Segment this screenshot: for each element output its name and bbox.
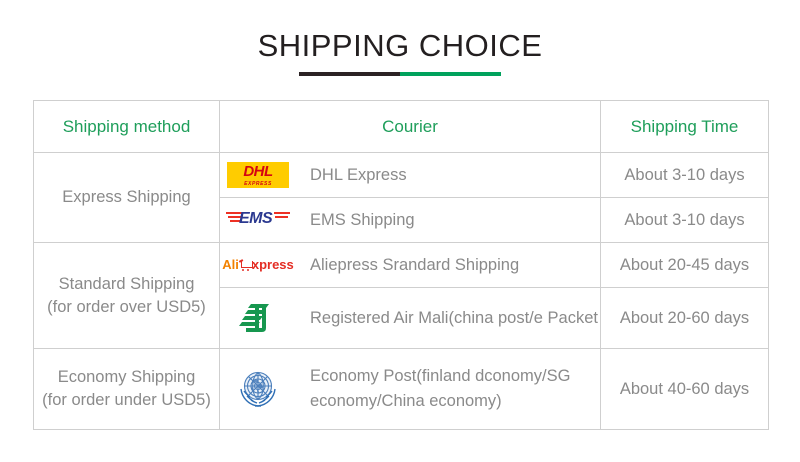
- courier-label: Aliepress Srandard Shipping: [310, 253, 519, 278]
- method-cell-express: Express Shipping: [34, 153, 220, 243]
- title-underline-left: [299, 72, 400, 76]
- dhl-logo-subword: EXPRESS: [227, 181, 289, 187]
- ems-logo-word: EMS: [239, 210, 272, 228]
- title-underline-right: [400, 72, 501, 76]
- time-cell: About 20-60 days: [601, 288, 769, 349]
- method-label: Economy Shipping: [58, 368, 196, 386]
- shipping-table: Shipping method Courier Shipping Time Ex…: [33, 100, 769, 430]
- courier-cell-china-post: Registered Air Mali(china post/e Packet: [220, 288, 601, 349]
- method-label: Standard Shipping: [59, 275, 195, 293]
- column-header-shipping-method: Shipping method: [34, 101, 220, 153]
- shopping-cart-icon: [239, 259, 252, 271]
- courier-label: EMS Shipping: [310, 208, 415, 233]
- table-row: Standard Shipping (for order over USD5) …: [34, 243, 769, 288]
- courier-label: Registered Air Mali(china post/e Packet: [310, 306, 598, 331]
- time-cell: About 40-60 days: [601, 349, 769, 430]
- aliexpress-logo-word-ali: Ali: [222, 257, 239, 273]
- courier-cell-economy-post: Economy Post(finland dconomy/SG economy/…: [220, 349, 601, 430]
- ems-logo: EMS: [220, 207, 296, 233]
- time-cell: About 3-10 days: [601, 153, 769, 198]
- courier-cell-ems: EMS EMS Shipping: [220, 198, 601, 243]
- shipping-choice-page: SHIPPING CHOICE Shipping method Courier …: [0, 0, 800, 462]
- method-sublabel: (for order over USD5): [34, 296, 219, 319]
- page-title-block: SHIPPING CHOICE: [0, 28, 800, 76]
- time-cell: About 20-45 days: [601, 243, 769, 288]
- courier-cell-aliexpress: Ali xpress Aliepress Srandard Ship: [220, 243, 601, 288]
- courier-cell-dhl: DHL EXPRESS DHL Express: [220, 153, 601, 198]
- table-row: Express Shipping DHL EXPRESS DHL Express…: [34, 153, 769, 198]
- method-cell-economy: Economy Shipping (for order under USD5): [34, 349, 220, 430]
- courier-label: DHL Express: [310, 163, 407, 188]
- courier-label: Economy Post(finland dconomy/SG economy/…: [310, 364, 600, 414]
- table-row: Economy Shipping (for order under USD5): [34, 349, 769, 430]
- dhl-logo: DHL EXPRESS: [220, 162, 296, 188]
- china-post-logo: [220, 298, 296, 338]
- column-header-shipping-time: Shipping Time: [601, 101, 769, 153]
- title-underline: [299, 72, 501, 76]
- table-header-row: Shipping method Courier Shipping Time: [34, 101, 769, 153]
- method-label: Express Shipping: [62, 188, 190, 206]
- united-nations-logo: [220, 365, 296, 413]
- column-header-courier: Courier: [220, 101, 601, 153]
- page-title: SHIPPING CHOICE: [0, 28, 800, 64]
- dhl-logo-word: DHL: [227, 164, 289, 179]
- time-cell: About 3-10 days: [601, 198, 769, 243]
- aliexpress-logo: Ali xpress: [220, 255, 296, 275]
- aliexpress-logo-word-xpress: xpress: [252, 257, 294, 273]
- method-sublabel: (for order under USD5): [34, 389, 219, 412]
- method-cell-standard: Standard Shipping (for order over USD5): [34, 243, 220, 349]
